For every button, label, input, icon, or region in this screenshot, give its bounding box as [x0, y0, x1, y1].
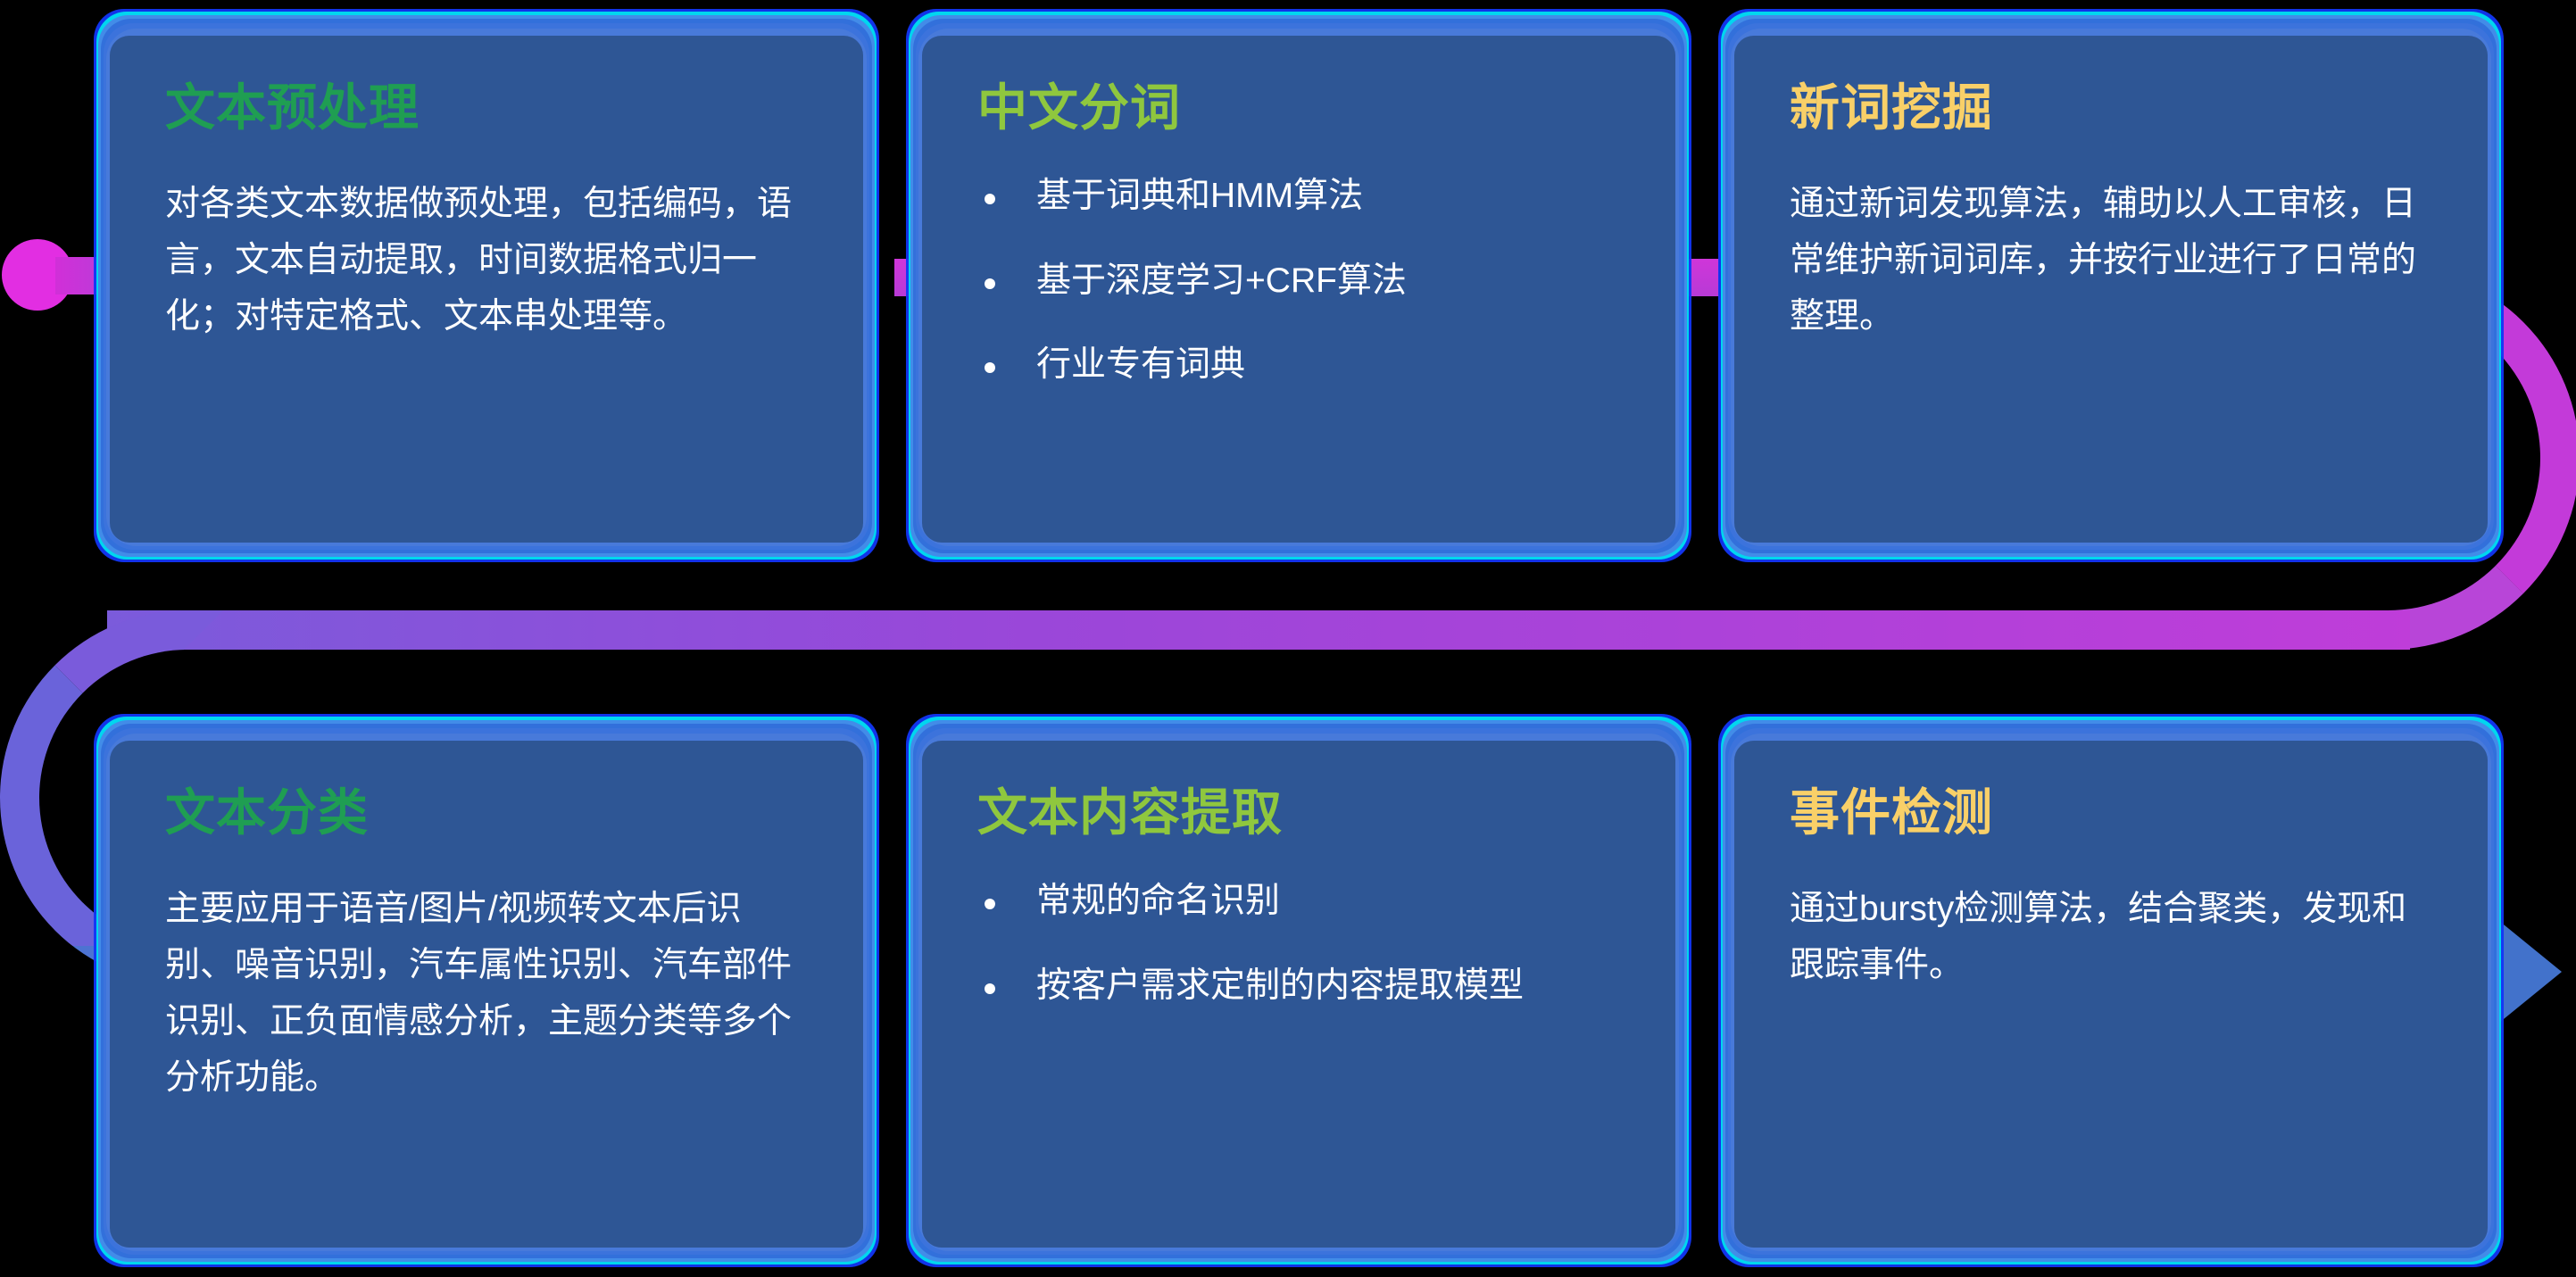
card-title: 文本分类 [165, 787, 808, 840]
card-title: 文本内容提取 [977, 787, 1620, 840]
card-title: 事件检测 [1790, 787, 2432, 840]
card-surface: 文本内容提取 常规的命名识别 按客户需求定制的内容提取模型 [922, 741, 1675, 1248]
connector-mid-bar [107, 610, 2410, 650]
arrow-right-icon [2499, 921, 2562, 1023]
card-paragraph: 通过bursty检测算法，结合聚类，发现和跟踪事件。 [1790, 881, 2432, 993]
card-paragraph: 通过新词发现算法，辅助以人工审核，日常维护新词词库，并按行业进行了日常的整理。 [1790, 176, 2432, 345]
card-chinese-word-segmentation[interactable]: 中文分词 基于词典和HMM算法 基于深度学习+CRF算法 行业专有词典 [906, 9, 1691, 562]
card-surface: 新词挖掘 通过新词发现算法，辅助以人工审核，日常维护新词词库，并按行业进行了日常… [1734, 36, 2488, 543]
card-text-preprocessing[interactable]: 文本预处理 对各类文本数据做预处理，包括编码，语言，文本自动提取，时间数据格式归… [94, 9, 879, 562]
card-title: 文本预处理 [165, 82, 808, 135]
card-surface: 中文分词 基于词典和HMM算法 基于深度学习+CRF算法 行业专有词典 [922, 36, 1675, 543]
card-paragraph: 对各类文本数据做预处理，包括编码，语言，文本自动提取，时间数据格式归一化；对特定… [165, 176, 808, 345]
list-item: 基于词典和HMM算法 [977, 176, 1620, 218]
diagram-canvas: 文本预处理 对各类文本数据做预处理，包括编码，语言，文本自动提取，时间数据格式归… [0, 0, 2576, 1277]
list-item: 常规的命名识别 [977, 881, 1620, 923]
card-text-content-extraction[interactable]: 文本内容提取 常规的命名识别 按客户需求定制的内容提取模型 [906, 714, 1691, 1267]
card-bullet-list: 常规的命名识别 按客户需求定制的内容提取模型 [977, 881, 1620, 1008]
card-event-detection[interactable]: 事件检测 通过bursty检测算法，结合聚类，发现和跟踪事件。 [1718, 714, 2504, 1267]
card-row-bottom: 文本分类 主要应用于语音/图片/视频转文本后识别、噪音识别，汽车属性识别、汽车部… [94, 714, 2504, 1267]
card-surface: 文本预处理 对各类文本数据做预处理，包括编码，语言，文本自动提取，时间数据格式归… [110, 36, 863, 543]
card-text-classification[interactable]: 文本分类 主要应用于语音/图片/视频转文本后识别、噪音识别，汽车属性识别、汽车部… [94, 714, 879, 1267]
card-paragraph: 主要应用于语音/图片/视频转文本后识别、噪音识别，汽车属性识别、汽车部件识别、正… [165, 881, 808, 1107]
list-item: 按客户需求定制的内容提取模型 [977, 966, 1620, 1008]
card-title: 中文分词 [977, 82, 1620, 135]
card-surface: 事件检测 通过bursty检测算法，结合聚类，发现和跟踪事件。 [1734, 741, 2488, 1248]
card-surface: 文本分类 主要应用于语音/图片/视频转文本后识别、噪音识别，汽车属性识别、汽车部… [110, 741, 863, 1248]
card-row-top: 文本预处理 对各类文本数据做预处理，包括编码，语言，文本自动提取，时间数据格式归… [94, 9, 2504, 562]
card-new-word-discovery[interactable]: 新词挖掘 通过新词发现算法，辅助以人工审核，日常维护新词词库，并按行业进行了日常… [1718, 9, 2504, 562]
card-bullet-list: 基于词典和HMM算法 基于深度学习+CRF算法 行业专有词典 [977, 176, 1620, 386]
list-item: 基于深度学习+CRF算法 [977, 261, 1620, 303]
list-item: 行业专有词典 [977, 344, 1620, 386]
card-title: 新词挖掘 [1790, 82, 2432, 135]
